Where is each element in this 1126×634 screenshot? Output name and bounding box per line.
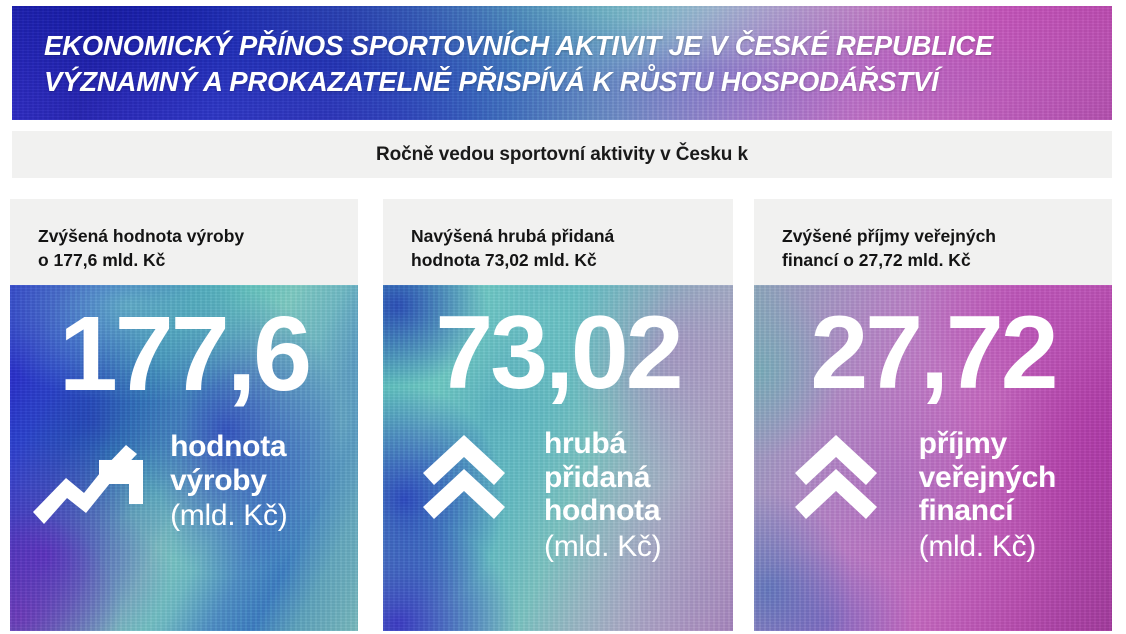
stat-value: 73,02 [383,301,733,405]
stat-card-header-text: Zvýšená hodnota výroby o 177,6 mld. Kč [38,225,330,273]
stat-card-hruba-pridana-hodnota: Navýšená hrubá přidaná hodnota 73,02 mld… [383,199,733,631]
stat-card-content: 27,72 [754,285,1112,631]
stat-value: 27,72 [754,301,1112,405]
stat-label: hodnota výroby [170,430,344,497]
header-banner: EKONOMICKÝ PŘÍNOS SPORTOVNÍCH AKTIVIT JE… [12,6,1112,120]
label-column: hrubá přidaná hodnota (mld. Kč) [544,427,733,565]
stat-card-body: 27,72 [754,285,1112,631]
stat-card-lower: hodnota výroby (mld. Kč) [10,430,358,535]
stat-card-prijmy-verejnych-financi: Zvýšené příjmy veřejných financí o 27,72… [754,199,1112,631]
stat-cards-row: Zvýšená hodnota výroby o 177,6 mld. Kč 1… [0,199,1126,634]
stat-card-content: 177,6 [10,285,358,631]
stat-unit: (mld. Kč) [919,528,1098,566]
stat-card-lower: příjmy veřejných financí (mld. Kč) [754,427,1112,565]
stat-unit: (mld. Kč) [544,528,719,566]
stat-card-content: 73,02 [383,285,733,631]
stat-label: hrubá přidaná hodnota [544,427,719,528]
stat-card-header: Zvýšená hodnota výroby o 177,6 mld. Kč [10,199,358,285]
double-chevron-up-icon [793,433,879,565]
stat-card-body: 177,6 [10,285,358,631]
stat-label: příjmy veřejných financí [919,427,1098,528]
stat-card-hodnota-vyroby: Zvýšená hodnota výroby o 177,6 mld. Kč 1… [10,199,358,631]
subtitle-text: Ročně vedou sportovní aktivity v Česku k [376,144,748,166]
stat-card-header-text: Navýšená hrubá přidaná hodnota 73,02 mld… [411,225,705,273]
infographic-page: EKONOMICKÝ PŘÍNOS SPORTOVNÍCH AKTIVIT JE… [0,0,1126,634]
label-column: hodnota výroby (mld. Kč) [170,430,358,535]
page-title: EKONOMICKÝ PŘÍNOS SPORTOVNÍCH AKTIVIT JE… [44,28,1072,101]
stat-unit: (mld. Kč) [170,497,344,535]
trend-up-arrow-icon [31,436,149,535]
icon-column [383,427,544,565]
double-chevron-up-icon [421,433,507,565]
subtitle-bar: Ročně vedou sportovní aktivity v Česku k [12,131,1112,178]
label-column: příjmy veřejných financí (mld. Kč) [919,427,1112,565]
stat-card-lower: hrubá přidaná hodnota (mld. Kč) [383,427,733,565]
stat-card-header: Navýšená hrubá přidaná hodnota 73,02 mld… [383,199,733,285]
stat-card-header-text: Zvýšené příjmy veřejných financí o 27,72… [782,225,1084,273]
icon-column [754,427,919,565]
stat-card-body: 73,02 [383,285,733,631]
icon-column [10,430,170,535]
stat-value: 177,6 [10,301,358,407]
stat-card-header: Zvýšené příjmy veřejných financí o 27,72… [754,199,1112,285]
